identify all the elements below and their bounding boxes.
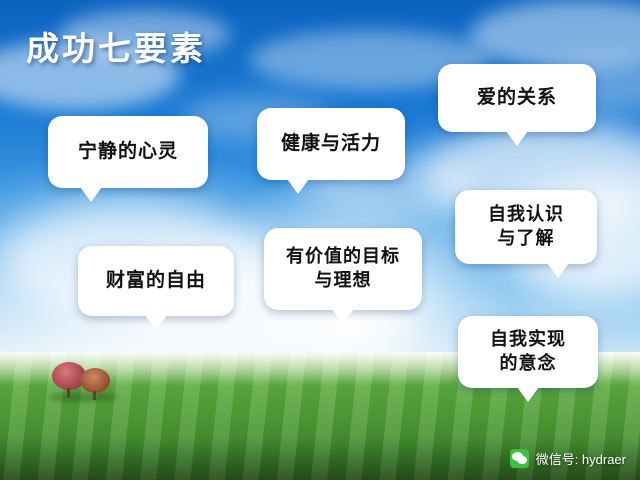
bubble-financial-freedom[interactable]: 财富的自由 (78, 246, 234, 316)
slide-canvas: 成功七要素 宁静的心灵 健康与活力 爱的关系 自我认识 与了解 有价值的目标 与… (0, 0, 640, 480)
tree-right (80, 368, 110, 400)
bubble-self-knowledge[interactable]: 自我认识 与了解 (455, 190, 597, 264)
bubble-label: 自我认识 与了解 (488, 203, 564, 251)
bubble-label: 健康与活力 (281, 131, 381, 156)
watermark: 微信号: hydraer (510, 449, 626, 468)
bubble-valuable-goals[interactable]: 有价值的目标 与理想 (264, 228, 422, 310)
bubble-label: 宁静的心灵 (78, 139, 178, 164)
bubble-label: 爱的关系 (477, 85, 557, 110)
bubble-love-relationship[interactable]: 爱的关系 (438, 64, 596, 132)
watermark-label: 微信号: hydraer (536, 449, 626, 468)
bubble-label: 财富的自由 (106, 268, 206, 293)
tree-trunk (67, 388, 70, 398)
tree-crown (80, 368, 110, 393)
bubble-label: 自我实现 的意念 (490, 328, 566, 376)
wechat-bubble-small (517, 456, 527, 464)
tree-trunk (93, 391, 96, 400)
bubble-peaceful-mind[interactable]: 宁静的心灵 (48, 116, 208, 188)
page-title: 成功七要素 (26, 22, 206, 70)
bubble-self-actualization[interactable]: 自我实现 的意念 (458, 316, 598, 388)
wechat-icon (510, 449, 529, 468)
bubble-health-vitality[interactable]: 健康与活力 (257, 108, 405, 180)
bubble-label: 有价值的目标 与理想 (286, 245, 400, 293)
